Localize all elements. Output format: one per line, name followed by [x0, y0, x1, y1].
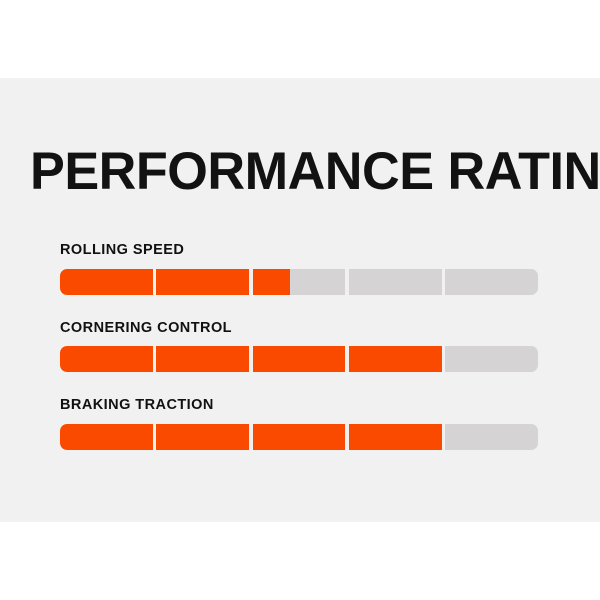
- rating-segment-fill: [156, 424, 249, 450]
- rating-segment-fill: [60, 346, 153, 372]
- rating-segment: [60, 346, 153, 372]
- rating-label: CORNERING CONTROL: [60, 321, 538, 336]
- rating-label: ROLLING SPEED: [60, 243, 538, 258]
- rating-row: BRAKING TRACTION: [60, 398, 538, 450]
- rating-segment-fill: [253, 424, 346, 450]
- rating-segment: [156, 424, 249, 450]
- rating-segment-fill: [349, 424, 442, 450]
- rating-segment: [60, 269, 153, 295]
- rating-segment-fill: [253, 269, 290, 295]
- rating-segment-fill: [60, 424, 153, 450]
- rating-segment-fill: [349, 346, 442, 372]
- rating-segment-fill: [156, 346, 249, 372]
- rating-segment: [156, 269, 249, 295]
- rating-bar: [60, 424, 538, 450]
- rating-segment-fill: [60, 269, 153, 295]
- rating-segment: [60, 424, 153, 450]
- rating-segment: [445, 269, 538, 295]
- rating-row: CORNERING CONTROL: [60, 321, 538, 373]
- rating-segment: [445, 346, 538, 372]
- rating-segment: [349, 424, 442, 450]
- page-title: PERFORMANCE RATINGS: [30, 145, 600, 198]
- rating-segment: [445, 424, 538, 450]
- rating-bar: [60, 269, 538, 295]
- rating-segment: [253, 346, 346, 372]
- rating-segment: [349, 346, 442, 372]
- rating-row: ROLLING SPEED: [60, 243, 538, 295]
- rating-segment-fill: [253, 346, 346, 372]
- rating-segment-fill: [156, 269, 249, 295]
- ratings-list: ROLLING SPEEDCORNERING CONTROLBRAKING TR…: [60, 243, 538, 450]
- rating-segment: [253, 269, 346, 295]
- rating-segment: [156, 346, 249, 372]
- performance-ratings-card: PERFORMANCE RATINGS ROLLING SPEEDCORNERI…: [0, 0, 600, 600]
- rating-segment: [349, 269, 442, 295]
- rating-label: BRAKING TRACTION: [60, 398, 538, 413]
- rating-segment: [253, 424, 346, 450]
- rating-bar: [60, 346, 538, 372]
